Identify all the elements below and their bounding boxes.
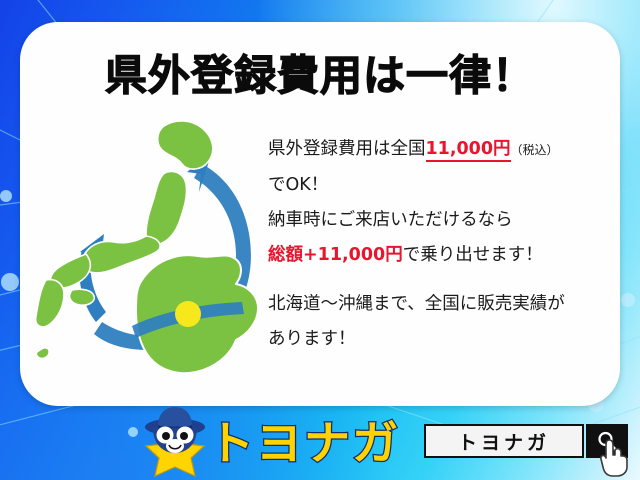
content-card: 県外登録費用は一律！: [20, 22, 620, 406]
tax-note: （税込）: [511, 143, 559, 157]
gunma-prefecture-inset: [132, 255, 258, 373]
footer-bar: トヨナガ トヨナガ: [0, 404, 640, 480]
location-marker: [175, 301, 201, 327]
price-highlight-1: 11,000円: [426, 139, 511, 162]
copy-line-3: 納車時にご来店いただけるなら: [268, 203, 613, 238]
promo-banner: 県外登録費用は一律！: [0, 0, 640, 480]
body-copy: 県外登録費用は全国11,000円（税込） でOK！ 納車時にご来店いただけるなら…: [268, 132, 613, 357]
copy-line-6: あります！: [268, 322, 613, 357]
copy-line-2: でOK！: [268, 168, 613, 203]
search-input[interactable]: トヨナガ: [424, 424, 584, 458]
page-title: 県外登録費用は一律！: [20, 42, 620, 103]
search-input-value: トヨナガ: [458, 428, 550, 455]
price-highlight-2: 総額+11,000円: [268, 245, 403, 265]
brand-wordmark: トヨナガ: [208, 420, 400, 466]
copy-line-4: 総額+11,000円で乗り出せます！: [268, 238, 613, 273]
japan-map-illustration: [36, 112, 286, 402]
hand-pointer-icon: [598, 438, 632, 478]
copy-line-5: 北海道～沖縄まで、全国に販売実績が: [268, 287, 613, 322]
toyonaga-mascot-icon: [142, 406, 208, 478]
copy-line-1: 県外登録費用は全国11,000円（税込）: [268, 132, 613, 168]
copy-spacer: [268, 273, 613, 287]
